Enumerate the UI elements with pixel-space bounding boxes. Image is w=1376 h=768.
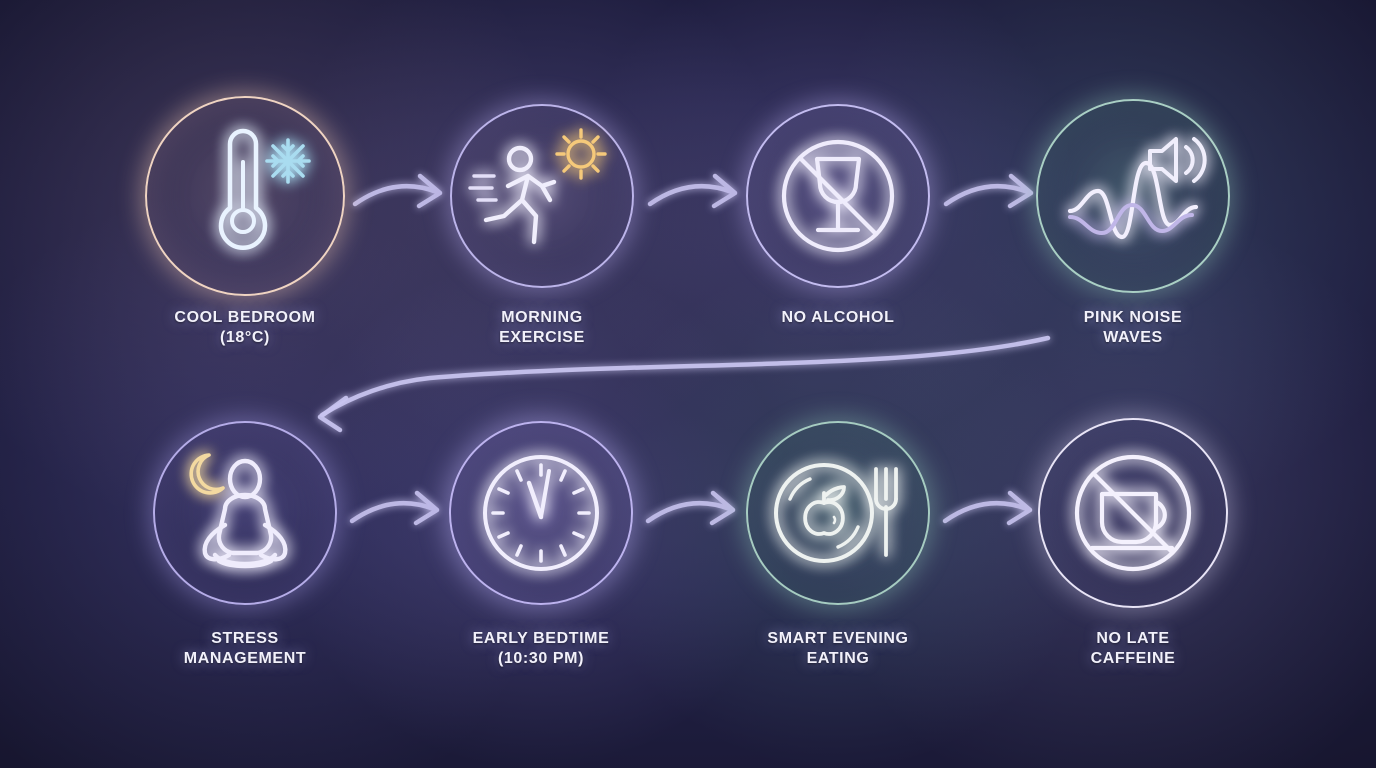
label-no-alcohol: NO ALCOHOL <box>708 308 968 328</box>
arrow-7-8 <box>945 493 1030 523</box>
arrow-6-7 <box>648 493 733 523</box>
arrow-5-6 <box>352 493 437 523</box>
infographic-canvas: COOL BEDROOM (18°C) <box>0 0 1376 768</box>
node-early-bedtime[interactable] <box>449 421 633 605</box>
arrow-2-3 <box>650 176 735 206</box>
node-pink-noise-waves[interactable] <box>1036 99 1230 293</box>
plate-apple-fork-icon <box>746 421 930 605</box>
no-wine-glass-icon <box>746 104 930 288</box>
node-smart-evening-eating[interactable] <box>746 421 930 605</box>
no-coffee-cup-icon <box>1038 418 1228 608</box>
arrow-3-4 <box>946 176 1031 206</box>
node-no-late-caffeine[interactable] <box>1038 418 1228 608</box>
node-no-alcohol[interactable] <box>746 104 930 288</box>
label-morning-exercise: MORNING EXERCISE <box>412 308 672 348</box>
label-stress-management: STRESS MANAGEMENT <box>105 629 385 669</box>
arrow-4-5-return <box>320 338 1048 430</box>
meditating-person-moon-icon <box>153 421 337 605</box>
arrow-1-2 <box>355 176 440 206</box>
thermometer-snowflake-icon <box>145 96 345 296</box>
clock-icon <box>449 421 633 605</box>
node-morning-exercise[interactable] <box>450 104 634 288</box>
label-cool-bedroom: COOL BEDROOM (18°C) <box>95 308 395 348</box>
label-smart-evening-eating: SMART EVENING EATING <box>698 629 978 669</box>
node-cool-bedroom[interactable] <box>145 96 345 296</box>
label-pink-noise-waves: PINK NOISE WAVES <box>1003 308 1263 348</box>
speaker-sound-waves-icon <box>1036 99 1230 293</box>
label-no-late-caffeine: NO LATE CAFFEINE <box>993 629 1273 669</box>
label-early-bedtime: EARLY BEDTIME (10:30 PM) <box>401 629 681 669</box>
node-stress-management[interactable] <box>153 421 337 605</box>
running-person-sun-icon <box>450 104 634 288</box>
